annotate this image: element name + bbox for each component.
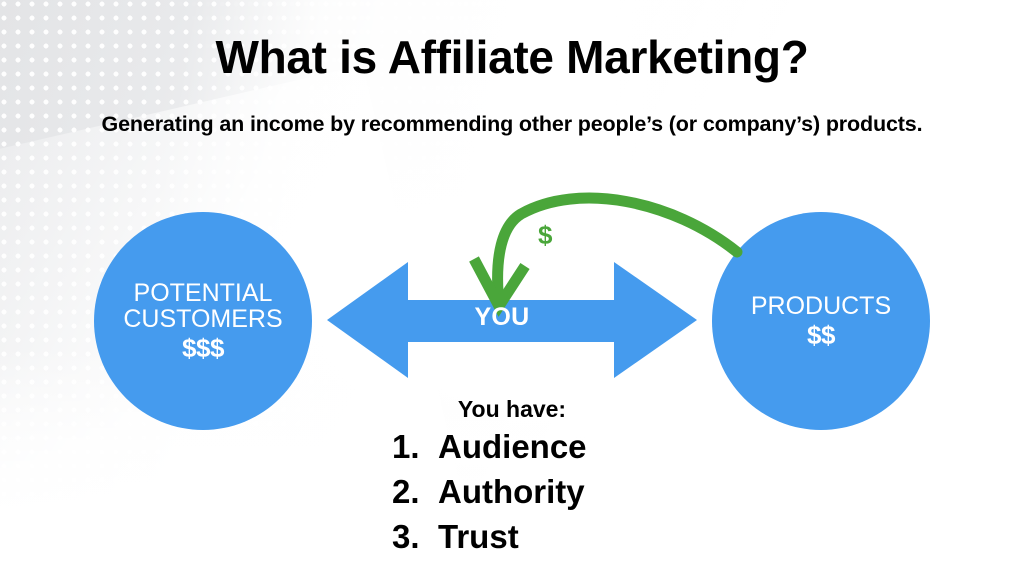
list-item-number: 3. [392,518,438,557]
list-item-label: Authority [438,473,585,512]
list-item: 3. Trust [392,518,692,557]
node-you-label: YOU [452,303,552,332]
list-item: 2. Authority [392,473,692,512]
slide-canvas: What is Affiliate Marketing? Generating … [0,0,1024,576]
list-item: 1. Audience [392,428,692,467]
you-have-list: 1. Audience 2. Authority 3. Trust [392,428,692,563]
commission-arrow-dollar-label: $ [538,220,552,251]
list-item-number: 1. [392,428,438,467]
list-item-label: Audience [438,428,587,467]
you-have-heading: You have: [0,396,1024,423]
list-item-label: Trust [438,518,519,557]
list-item-number: 2. [392,473,438,512]
